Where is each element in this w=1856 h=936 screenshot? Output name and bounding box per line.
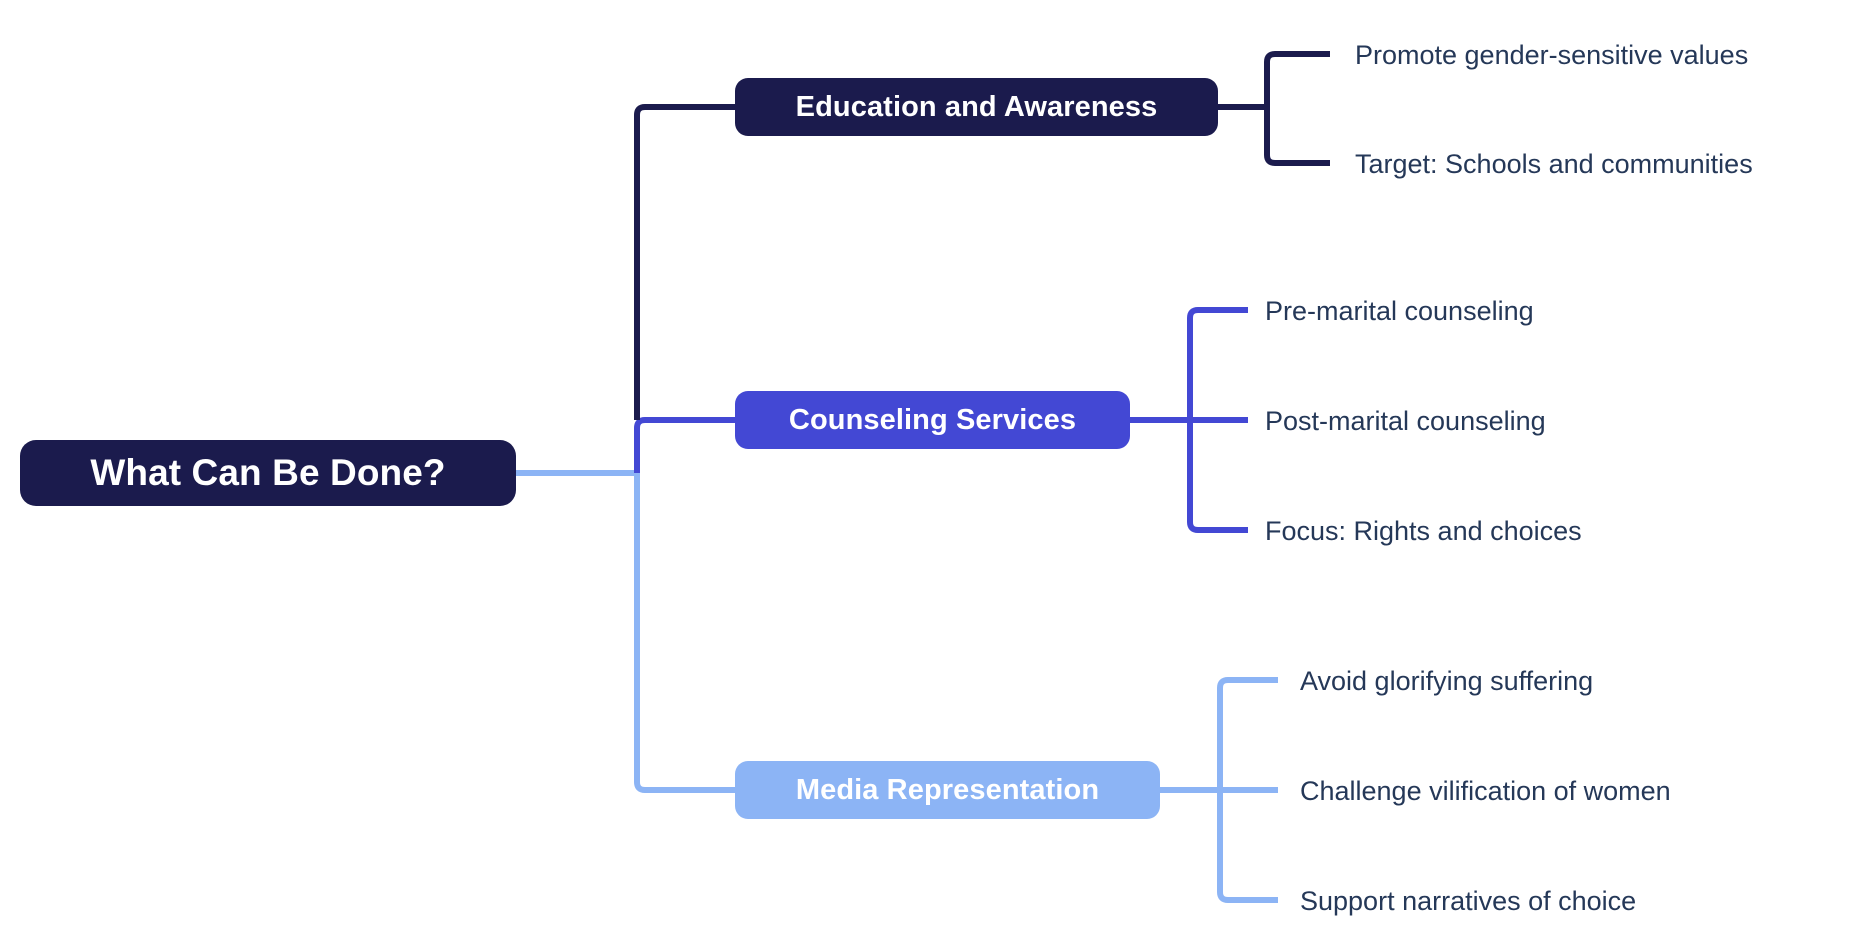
- leaf-label: Target: Schools and communities: [1355, 149, 1753, 179]
- branch-node-media-representation[interactable]: Media Representation: [735, 761, 1160, 819]
- branch-node-counseling-services[interactable]: Counseling Services: [735, 391, 1130, 449]
- leaf-label: Challenge vilification of women: [1300, 776, 1671, 806]
- connector-branch-1-leaf-2: [1267, 107, 1330, 163]
- leaf-label: Support narratives of choice: [1300, 886, 1636, 916]
- branch-node-label: Education and Awareness: [796, 91, 1158, 124]
- root-node-label: What Can Be Done?: [90, 452, 445, 494]
- leaf-item[interactable]: Challenge vilification of women: [1300, 778, 1671, 805]
- leaf-label: Avoid glorifying suffering: [1300, 666, 1593, 696]
- leaf-item[interactable]: Avoid glorifying suffering: [1300, 668, 1593, 695]
- leaf-label: Pre-marital counseling: [1265, 296, 1534, 326]
- connector-spine-branch-2: [637, 420, 735, 473]
- leaf-item[interactable]: Focus: Rights and choices: [1265, 518, 1582, 545]
- connector-spine-branch-1: [637, 107, 735, 420]
- connector-root-spine: [516, 473, 735, 790]
- leaf-item[interactable]: Post-marital counseling: [1265, 408, 1546, 435]
- leaf-label: Post-marital counseling: [1265, 406, 1546, 436]
- connector-branch-3-leaf-3: [1220, 790, 1278, 900]
- leaf-item[interactable]: Target: Schools and communities: [1355, 151, 1753, 178]
- mindmap-canvas: What Can Be Done? Education and Awarenes…: [0, 0, 1856, 936]
- leaf-item[interactable]: Support narratives of choice: [1300, 888, 1636, 915]
- connector-branch-2-leaf-3: [1190, 420, 1248, 530]
- branch-node-label: Media Representation: [796, 774, 1099, 807]
- connector-branch-3-leaf-1: [1220, 680, 1278, 790]
- branch-node-education-and-awareness[interactable]: Education and Awareness: [735, 78, 1218, 136]
- leaf-item[interactable]: Promote gender-sensitive values: [1355, 42, 1748, 69]
- connector-branch-2-leaf-1: [1190, 310, 1248, 420]
- branch-node-label: Counseling Services: [789, 404, 1076, 437]
- leaf-item[interactable]: Pre-marital counseling: [1265, 298, 1534, 325]
- connector-branch-1-leaf-1: [1267, 54, 1330, 107]
- leaf-label: Focus: Rights and choices: [1265, 516, 1582, 546]
- leaf-label: Promote gender-sensitive values: [1355, 40, 1748, 70]
- root-node[interactable]: What Can Be Done?: [20, 440, 516, 506]
